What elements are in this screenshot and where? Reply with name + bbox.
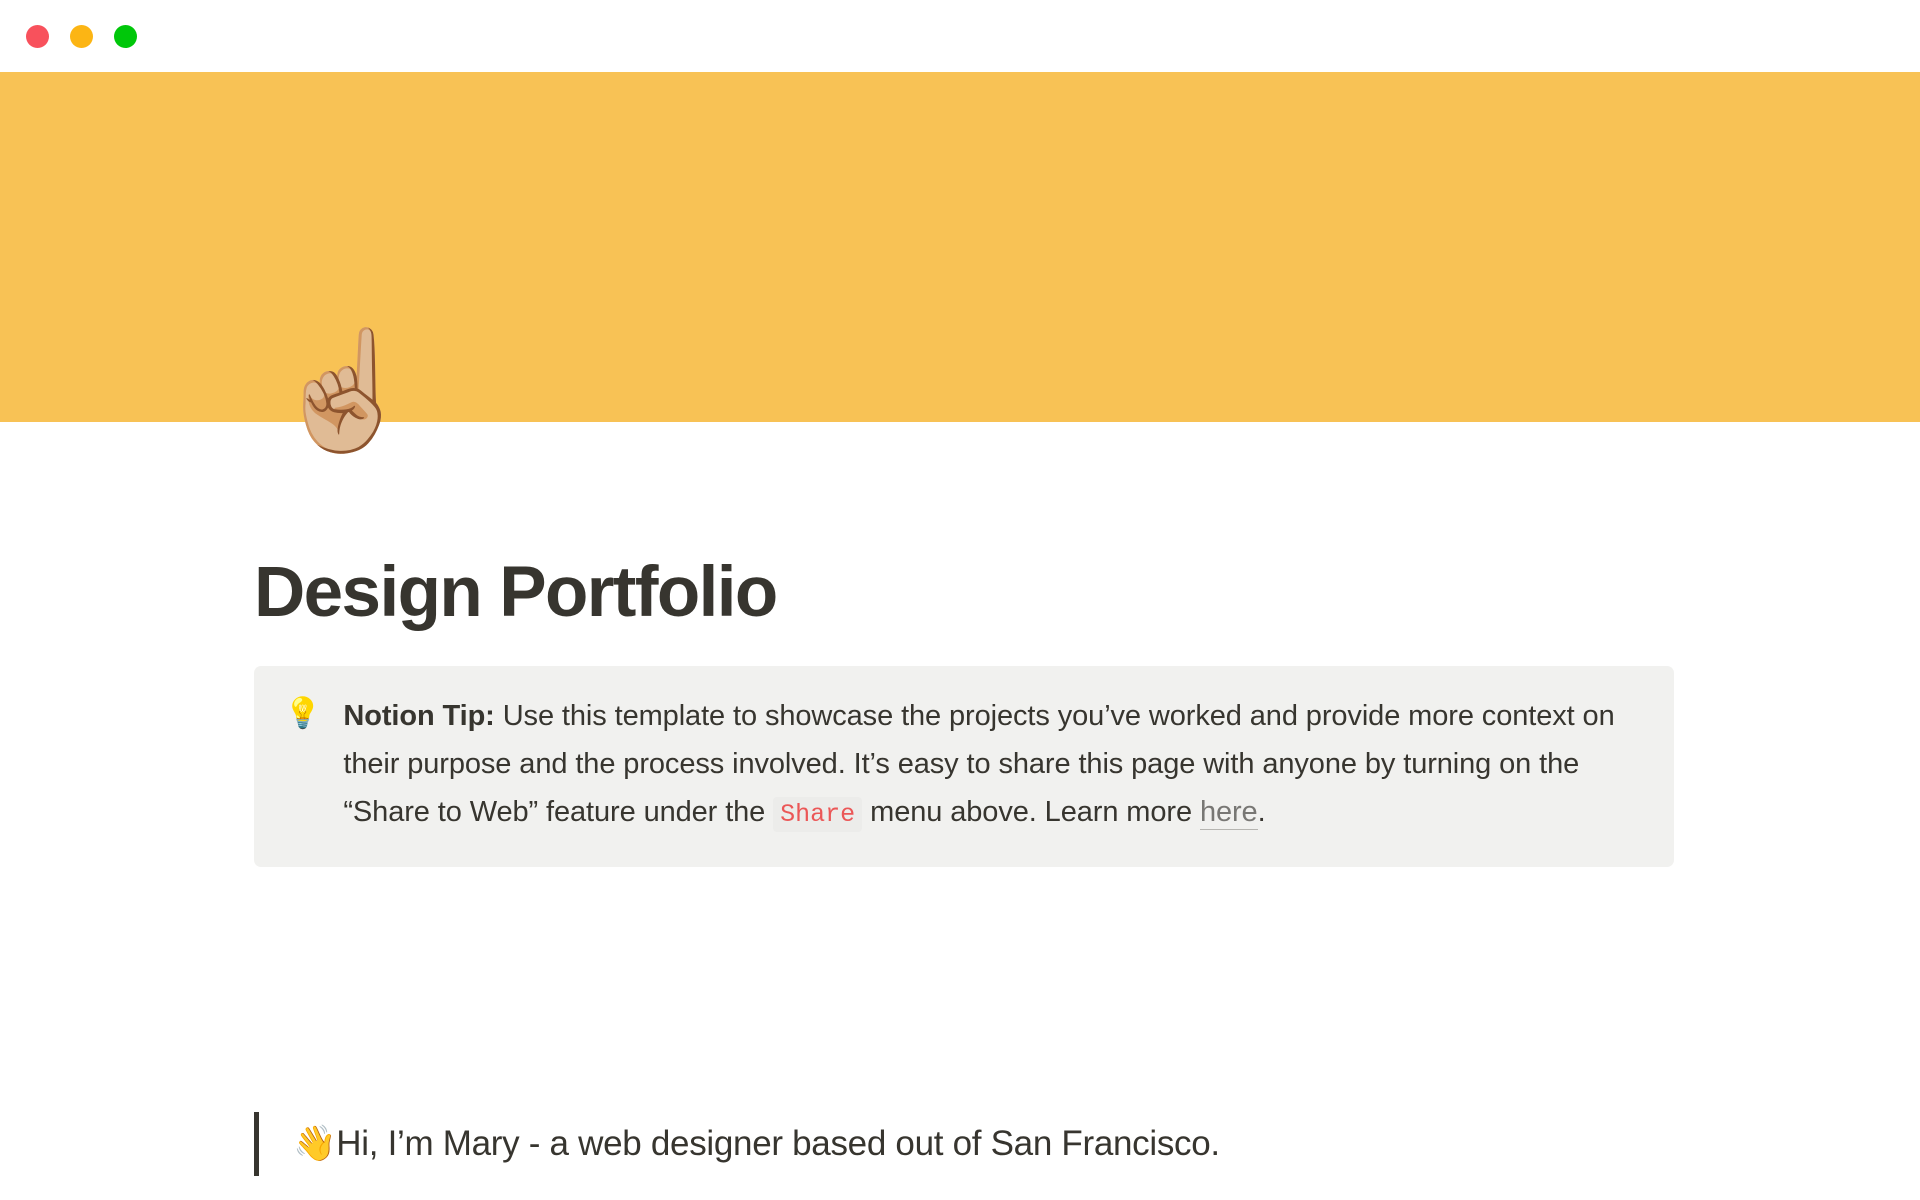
share-code-chip: Share [773,797,862,832]
light-bulb-icon: 💡 [284,692,321,736]
waving-hand-icon: 👋 [293,1124,336,1163]
learn-more-here-link[interactable]: here [1200,796,1258,830]
callout-bold-label: Notion Tip: [343,700,494,732]
callout-text-segment-2: menu above. Learn more [862,796,1200,828]
traffic-light-group [26,25,137,48]
quote-sentence: Hi, I’m Mary - a web designer based out … [336,1124,1220,1163]
callout-text: Notion Tip: Use this template to showcas… [343,692,1644,839]
intro-quote-block[interactable]: 👋Hi, I’m Mary - a web designer based out… [254,1112,1674,1176]
close-window-button[interactable] [26,25,49,48]
minimize-window-button[interactable] [70,25,93,48]
page-body: ☝🏼 Design Portfolio 💡 Notion Tip: Use th… [0,422,1920,1200]
page-title[interactable]: Design Portfolio [254,552,1674,634]
maximize-window-button[interactable] [114,25,137,48]
content-column: Design Portfolio 💡 Notion Tip: Use this … [254,422,1674,867]
notion-tip-callout[interactable]: 💡 Notion Tip: Use this template to showc… [254,666,1674,867]
quote-text: 👋Hi, I’m Mary - a web designer based out… [259,1112,1220,1176]
window-title-bar [0,0,1920,72]
callout-text-segment-3: . [1258,796,1266,828]
